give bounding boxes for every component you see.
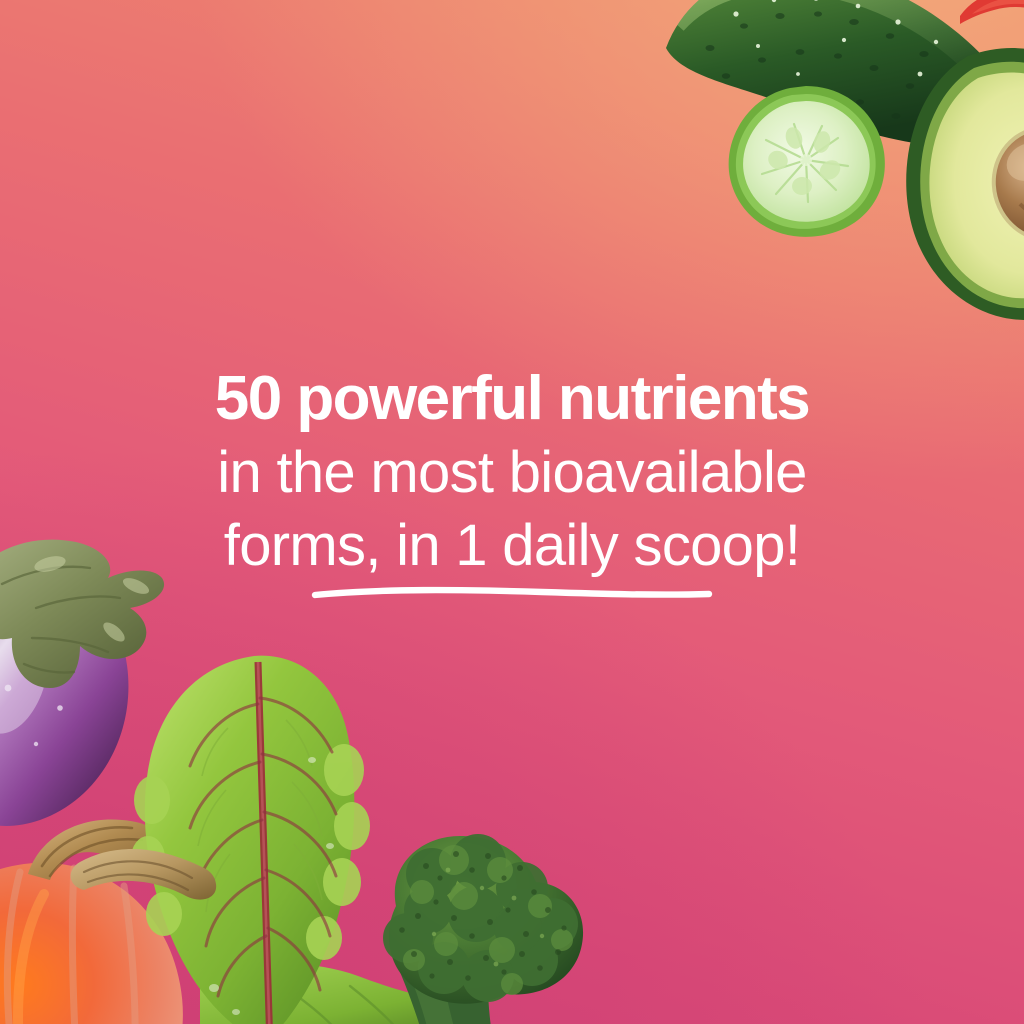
avocado-icon: [886, 38, 1024, 328]
leaf-icon: [86, 650, 416, 1024]
headline-line-3: forms, in 1 daily scoop!: [0, 517, 1024, 575]
headline-line-2: in the most bioavailable: [0, 444, 1024, 502]
headline-line-1: 50 powerful nutrients: [0, 368, 1024, 430]
cucumber-slice-icon: [718, 82, 898, 242]
promo-banner: 50 powerful nutrients in the most bioava…: [0, 0, 1024, 1024]
headline-block: 50 powerful nutrients in the most bioava…: [0, 368, 1024, 575]
